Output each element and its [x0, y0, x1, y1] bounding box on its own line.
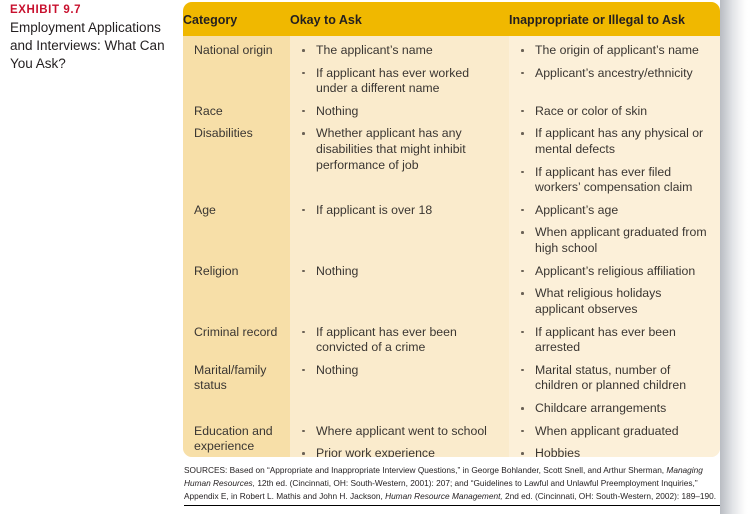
cell-category: Age: [183, 196, 290, 257]
okay-item-list: Nothing: [300, 257, 509, 280]
category-label: Education and experience: [194, 417, 290, 455]
okay-item: Nothing: [300, 104, 501, 120]
illegal-item-list: Applicant’s religious affiliationWhat re…: [519, 257, 720, 318]
table-row: Criminal recordIf applicant has ever bee…: [183, 318, 720, 356]
column-header-inappropriate-or-illegal: Inappropriate or Illegal to Ask: [509, 2, 720, 36]
exhibit-caption: EXHIBIT 9.7 Employment Applications and …: [10, 4, 175, 74]
sources-note: SOURCES: Based on “Appropriate and Inapp…: [184, 464, 720, 506]
cell-okay-to-ask: If applicant is over 18: [290, 196, 509, 257]
column-header-okay-to-ask: Okay to Ask: [290, 2, 509, 36]
cell-inappropriate-or-illegal: When applicant graduatedHobbies: [509, 417, 720, 457]
page-fold-shadow: [720, 0, 748, 514]
okay-item: If applicant has ever worked under a dif…: [300, 66, 501, 97]
table-row: DisabilitiesWhether applicant has any di…: [183, 119, 720, 195]
cell-inappropriate-or-illegal: The origin of applicant’s nameApplicant’…: [509, 36, 720, 97]
cell-okay-to-ask: If applicant has ever been convicted of …: [290, 318, 509, 356]
page-title: Employment Applications and Interviews: …: [10, 19, 175, 74]
illegal-item-list: Race or color of skin: [519, 97, 720, 120]
illegal-item: The origin of applicant’s name: [519, 43, 712, 59]
exhibit-table: Category Okay to Ask Inappropriate or Il…: [183, 2, 720, 457]
table-row: AgeIf applicant is over 18Applicant’s ag…: [183, 196, 720, 257]
illegal-item: What religious holidays applicant observ…: [519, 286, 712, 317]
exhibit-panel: Category Okay to Ask Inappropriate or Il…: [183, 2, 720, 457]
cell-category: Race: [183, 97, 290, 120]
category-label: Disabilities: [194, 119, 290, 141]
cell-category: Education and experience: [183, 417, 290, 457]
cell-okay-to-ask: Nothing: [290, 257, 509, 318]
cell-inappropriate-or-illegal: Applicant’s religious affiliationWhat re…: [509, 257, 720, 318]
illegal-item: Childcare arrangements: [519, 401, 712, 417]
exhibit-number: EXHIBIT 9.7: [10, 4, 175, 16]
okay-item-list: Whether applicant has any disabilities t…: [300, 119, 509, 173]
illegal-item-list: Marital status, number of children or pl…: [519, 356, 720, 417]
cell-okay-to-ask: Whether applicant has any disabilities t…: [290, 119, 509, 195]
table-row: ReligionNothingApplicant’s religious aff…: [183, 257, 720, 318]
cell-category: Marital/family status: [183, 356, 290, 417]
illegal-item: Marital status, number of children or pl…: [519, 363, 712, 394]
category-label: Age: [194, 196, 290, 218]
cell-okay-to-ask: Nothing: [290, 97, 509, 120]
cell-inappropriate-or-illegal: If applicant has ever been arrested: [509, 318, 720, 356]
okay-item: Nothing: [300, 264, 501, 280]
cell-category: Criminal record: [183, 318, 290, 356]
table-row: Marital/family statusNothingMarital stat…: [183, 356, 720, 417]
illegal-item: If applicant has ever been arrested: [519, 325, 712, 356]
illegal-item: If applicant has ever filed workers’ com…: [519, 165, 712, 196]
cell-category: National origin: [183, 36, 290, 97]
category-label: Marital/family status: [194, 356, 290, 394]
okay-item: Where applicant went to school: [300, 424, 501, 440]
sources-label: SOURCES:: [184, 465, 227, 475]
okay-item: If applicant is over 18: [300, 203, 501, 219]
cell-category: Disabilities: [183, 119, 290, 195]
sources-title-human-resource-management: Human Resource Management,: [385, 491, 503, 501]
okay-item-list: If applicant is over 18: [300, 196, 509, 219]
illegal-item: If applicant has any physical or mental …: [519, 126, 712, 157]
illegal-item: When applicant graduated: [519, 424, 712, 440]
table-header-row: Category Okay to Ask Inappropriate or Il…: [183, 2, 720, 36]
okay-item-list: Where applicant went to schoolPrior work…: [300, 417, 509, 457]
okay-item: The applicant’s name: [300, 43, 501, 59]
cell-okay-to-ask: Where applicant went to schoolPrior work…: [290, 417, 509, 457]
illegal-item: Hobbies: [519, 446, 712, 457]
cell-category: Religion: [183, 257, 290, 318]
okay-item-list: Nothing: [300, 356, 509, 379]
table-body: National originThe applicant’s nameIf ap…: [183, 36, 720, 457]
sources-text-part1: Based on “Appropriate and Inappropriate …: [227, 465, 666, 475]
okay-item: Nothing: [300, 363, 501, 379]
cell-okay-to-ask: Nothing: [290, 356, 509, 417]
okay-item: If applicant has ever been convicted of …: [300, 325, 501, 356]
illegal-item-list: The origin of applicant’s nameApplicant’…: [519, 36, 720, 81]
cell-inappropriate-or-illegal: Applicant’s ageWhen applicant graduated …: [509, 196, 720, 257]
sources-text-part3: 2nd ed. (Cincinnati, OH: South-Western, …: [503, 491, 716, 501]
table-row: National originThe applicant’s nameIf ap…: [183, 36, 720, 97]
cell-inappropriate-or-illegal: If applicant has any physical or mental …: [509, 119, 720, 195]
cell-inappropriate-or-illegal: Race or color of skin: [509, 97, 720, 120]
illegal-item: Applicant’s religious affiliation: [519, 264, 712, 280]
category-label: Religion: [194, 257, 290, 279]
okay-item: Whether applicant has any disabilities t…: [300, 126, 501, 173]
illegal-item-list: When applicant graduatedHobbies: [519, 417, 720, 457]
okay-item-list: The applicant’s nameIf applicant has eve…: [300, 36, 509, 97]
table-row: Education and experienceWhere applicant …: [183, 417, 720, 457]
category-label: National origin: [194, 36, 290, 58]
illegal-item-list: If applicant has ever been arrested: [519, 318, 720, 356]
column-header-category: Category: [183, 2, 290, 36]
illegal-item: Applicant’s age: [519, 203, 712, 219]
cell-inappropriate-or-illegal: Marital status, number of children or pl…: [509, 356, 720, 417]
cell-okay-to-ask: The applicant’s nameIf applicant has eve…: [290, 36, 509, 97]
illegal-item-list: If applicant has any physical or mental …: [519, 119, 720, 195]
illegal-item: Applicant’s ancestry/ethnicity: [519, 66, 712, 82]
okay-item: Prior work experience: [300, 446, 501, 457]
illegal-item: Race or color of skin: [519, 104, 712, 120]
okay-item-list: Nothing: [300, 97, 509, 120]
okay-item-list: If applicant has ever been convicted of …: [300, 318, 509, 356]
category-label: Criminal record: [194, 318, 290, 340]
illegal-item-list: Applicant’s ageWhen applicant graduated …: [519, 196, 720, 257]
illegal-item: When applicant graduated from high schoo…: [519, 225, 712, 256]
category-label: Race: [194, 97, 290, 119]
table-row: RaceNothingRace or color of skin: [183, 97, 720, 120]
